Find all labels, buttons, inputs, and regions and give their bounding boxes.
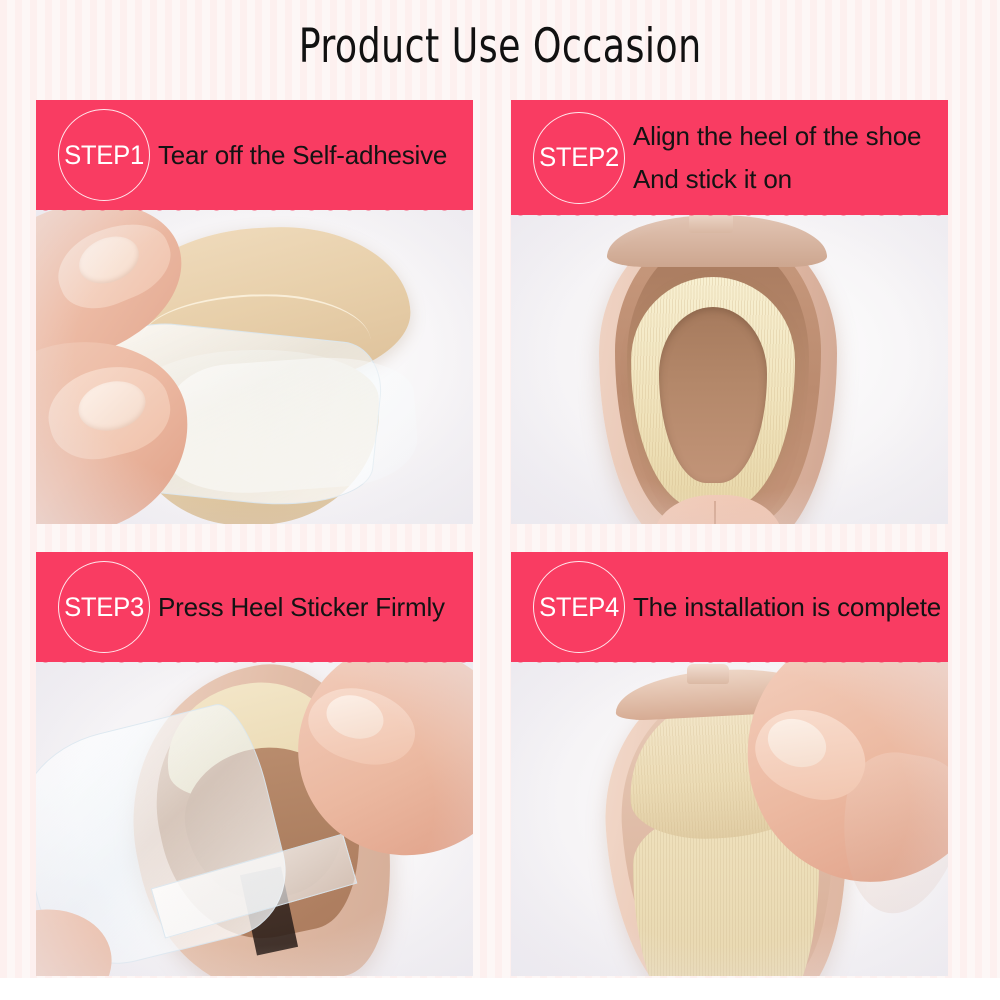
infographic-page: Product Use Occasion STEP1 Tear off the … [0,0,1000,978]
step-3-badge-label: STEP3 [64,592,144,623]
adhesive-film-secondary-shape [162,351,420,498]
step-3-description: Press Heel Sticker Firmly [158,586,445,628]
step-1-photo [36,210,473,524]
step-2-photo [511,215,948,524]
page-title: Product Use Occasion [299,19,702,74]
step-2-scallop-edge [511,206,948,224]
step-panel-2: STEP2 Align the heel of the shoe And sti… [511,100,948,524]
step-2-header-band: STEP2 Align the heel of the shoe And sti… [511,100,948,215]
step-3-photo [36,662,473,976]
finger-separation-line [714,501,716,524]
step-4-header-band: STEP4 The installation is complete [511,552,948,662]
step-1-badge-label: STEP1 [64,140,144,171]
step-1-scallop-edge [36,201,473,219]
step-2-badge-label: STEP2 [539,142,619,173]
step-3-header-band: STEP3 Press Heel Sticker Firmly [36,552,473,662]
step-2-description: Align the heel of the shoe And stick it … [633,115,921,199]
step-2-line-1: Align the heel of the shoe [633,115,921,157]
page-title-bar: Product Use Occasion [0,0,1000,92]
step-1-description: Tear off the Self-adhesive [158,134,447,176]
step-4-badge-label: STEP4 [539,592,619,623]
step-panel-4: STEP4 The installation is complete [511,552,948,976]
steps-grid: STEP1 Tear off the Self-adhesive [36,100,980,976]
step-4-photo [511,662,948,976]
step-1-header-band: STEP1 Tear off the Self-adhesive [36,100,473,210]
step-4-line-1: The installation is complete [633,586,941,628]
step-3-scallop-edge [36,653,473,671]
step-4-scallop-edge [511,653,948,671]
step-2-line-2: And stick it on [633,158,921,200]
step-1-line-1: Tear off the Self-adhesive [158,134,447,176]
step-4-badge: STEP4 [533,561,625,653]
step-3-badge: STEP3 [58,561,150,653]
step-1-badge: STEP1 [58,109,150,201]
step-panel-1: STEP1 Tear off the Self-adhesive [36,100,473,524]
step-panel-3: STEP3 Press Heel Sticker Firmly [36,552,473,976]
step-4-description: The installation is complete [633,586,941,628]
step-2-badge: STEP2 [533,112,625,204]
step-3-line-1: Press Heel Sticker Firmly [158,586,445,628]
